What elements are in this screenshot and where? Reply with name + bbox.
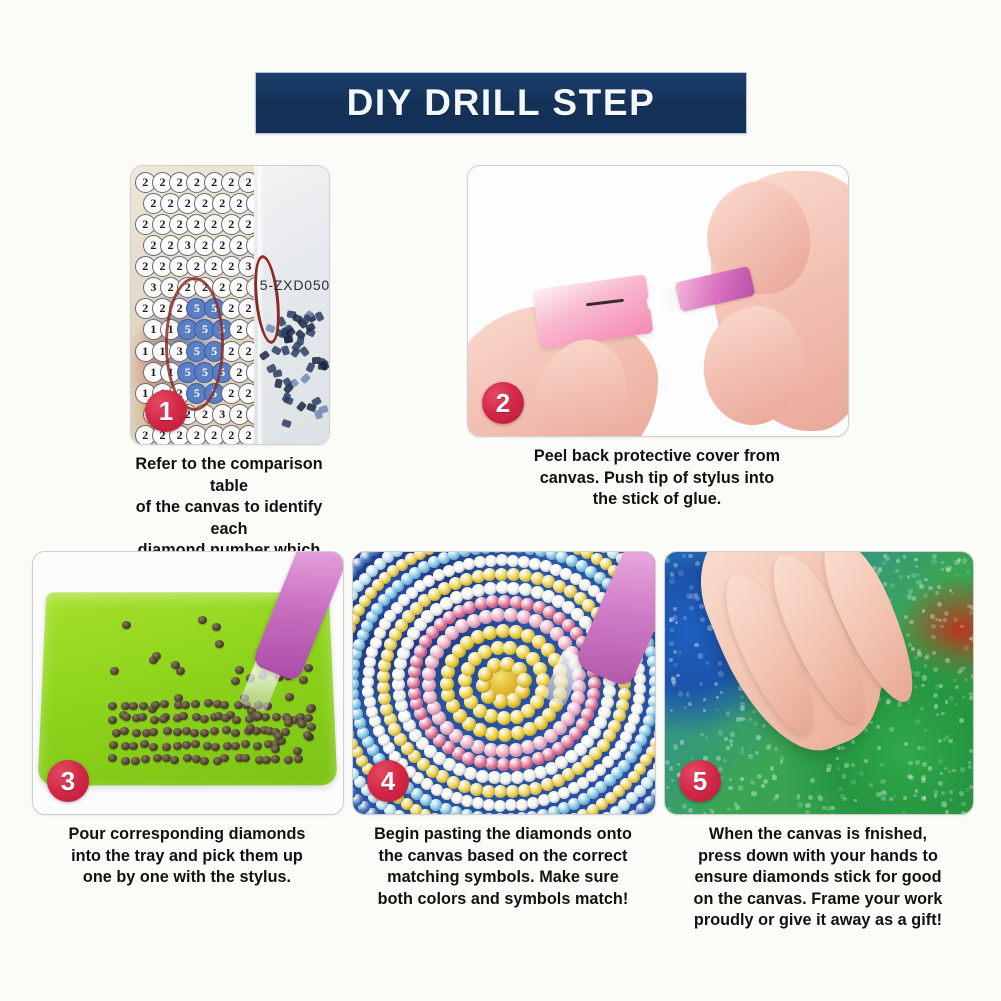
mandala-bead: [530, 695, 544, 709]
canvas-bead-sparkle: [689, 585, 694, 590]
tray-diamond: [200, 757, 209, 765]
mandala-bead: [472, 797, 484, 809]
mandala-bead: [516, 812, 528, 815]
mandala-bead: [532, 752, 545, 765]
canvas-bead-sparkle: [962, 696, 965, 699]
mandala-bead: [484, 582, 497, 595]
tray-diamond: [220, 701, 229, 709]
canvas-bead-sparkle: [678, 651, 682, 655]
canvas-bead-sparkle: [921, 684, 924, 687]
canvas-bead-sparkle: [959, 718, 964, 723]
canvas-bead-sparkle: [753, 721, 758, 726]
canvas-bead-sparkle: [677, 763, 680, 766]
canvas-bead-sparkle: [762, 724, 766, 728]
canvas-bead-sparkle: [971, 674, 974, 678]
mandala-bead: [558, 787, 570, 799]
mandala-bead: [365, 587, 377, 599]
tray-diamond: [129, 702, 138, 710]
canvas-bead-sparkle: [780, 760, 783, 763]
mandala-bead: [353, 639, 365, 651]
mandala-bead: [534, 766, 547, 779]
tray-diamond: [220, 754, 229, 762]
canvas-bead-sparkle: [915, 789, 918, 792]
canvas-bead-sparkle: [966, 570, 970, 574]
page-title: DIY DRILL STEP: [347, 82, 656, 124]
tray-diamond: [181, 701, 190, 709]
canvas-bead-sparkle: [921, 778, 926, 783]
canvas-bead-sparkle: [885, 556, 890, 561]
caption-line: Peel back protective cover from: [467, 446, 847, 468]
canvas-bead-sparkle: [751, 791, 756, 796]
mandala-bead: [459, 551, 471, 557]
canvas-bead-sparkle: [889, 797, 893, 801]
step-2-image: 2: [467, 165, 849, 437]
canvas-bead-sparkle: [678, 570, 684, 576]
canvas-bead-sparkle: [969, 785, 973, 789]
caption-line: press down with your hands to: [664, 846, 972, 868]
mandala-bead: [519, 583, 532, 596]
canvas-bead-sparkle: [913, 794, 916, 797]
mandala-bead: [541, 778, 554, 791]
tray-diamond: [141, 755, 150, 763]
canvas-bead-sparkle: [903, 796, 907, 800]
canvas-bead-sparkle: [907, 575, 911, 579]
canvas-bead-sparkle: [750, 780, 755, 785]
caption-line: canvas. Push tip of stylus into: [467, 468, 847, 490]
tray-diamond: [190, 729, 199, 737]
mandala-bead: [529, 782, 542, 795]
tray-diamond: [108, 754, 117, 762]
tray-diamond: [215, 640, 224, 648]
canvas-bead-sparkle: [770, 766, 774, 770]
mandala-bead: [523, 722, 537, 736]
canvas-bead-sparkle: [911, 647, 915, 651]
tray-diamond: [121, 757, 130, 765]
caption-line: one by one with the stylus.: [32, 867, 342, 889]
canvas-bead-sparkle: [740, 695, 744, 699]
canvas-bead-sparkle: [914, 558, 918, 562]
canvas-bead-sparkle: [680, 740, 685, 745]
tray-diamond: [110, 667, 119, 675]
mandala-bead: [472, 811, 484, 815]
canvas-bead-sparkle: [883, 582, 887, 586]
canvas-bead-sparkle: [924, 578, 928, 582]
tray-diamond: [204, 699, 213, 707]
canvas-bead-sparkle: [883, 791, 888, 796]
canvas-bead-sparkle: [969, 749, 973, 753]
canvas-bead-sparkle: [903, 555, 906, 558]
caption-line: into the tray and pick them up: [32, 846, 342, 868]
canvas-bead-sparkle: [700, 617, 705, 622]
canvas-bead-sparkle: [953, 617, 958, 622]
canvas-bead-sparkle: [775, 794, 779, 798]
tray-diamond: [162, 743, 171, 751]
canvas-bead-sparkle: [937, 585, 941, 589]
canvas-bead-sparkle: [945, 810, 949, 814]
canvas-bead-sparkle: [841, 746, 845, 750]
canvas-bead-sparkle: [949, 696, 954, 701]
canvas-bead-sparkle: [937, 602, 942, 607]
canvas-bead-sparkle: [893, 795, 896, 798]
canvas-bead-sparkle: [928, 586, 932, 590]
canvas-bead-sparkle: [716, 756, 721, 761]
canvas-bead-sparkle: [684, 706, 687, 709]
canvas-bead-sparkle: [934, 794, 938, 798]
canvas-bead-sparkle: [772, 775, 776, 779]
tray-diamond: [163, 727, 172, 735]
canvas-bead-sparkle: [842, 774, 846, 778]
canvas-bead-sparkle: [876, 725, 880, 729]
canvas-bead-sparkle: [740, 706, 745, 711]
canvas-bead-sparkle: [970, 605, 974, 610]
mandala-bead: [505, 799, 517, 811]
canvas-bead-sparkle: [756, 735, 761, 740]
mandala-bead: [483, 799, 495, 811]
canvas-bead-sparkle: [669, 766, 673, 770]
canvas-bead-sparkle: [729, 778, 733, 782]
canvas-bead-sparkle: [669, 812, 674, 816]
canvas-bead-sparkle: [726, 746, 730, 750]
canvas-bead-sparkle: [886, 699, 891, 704]
tray-diamond: [139, 702, 148, 710]
mandala-bead: [494, 813, 506, 815]
tray-diamond: [122, 713, 131, 721]
mandala-bead: [491, 551, 503, 553]
canvas-bead-sparkle: [934, 704, 939, 709]
caption-line: matching symbols. Make sure: [352, 867, 654, 889]
tray-diamond: [160, 700, 169, 708]
canvas-bead-sparkle: [703, 812, 707, 815]
page-title-banner: DIY DRILL STEP: [255, 72, 747, 134]
canvas-bead-sparkle: [682, 804, 687, 809]
canvas-bead-sparkle: [962, 558, 967, 563]
tray-diamond: [191, 700, 200, 708]
canvas-bead-sparkle: [699, 682, 703, 686]
canvas-bead-sparkle: [912, 596, 917, 601]
drill-bead: [259, 350, 270, 361]
canvas-bead-sparkle: [730, 814, 733, 815]
step-badge-2: 2: [482, 382, 524, 424]
mandala-bead: [352, 551, 353, 558]
tray-diamond: [241, 740, 250, 748]
canvas-bead-sparkle: [880, 763, 884, 767]
mandala-bead: [518, 784, 531, 797]
canvas-bead-sparkle: [933, 667, 938, 672]
canvas-bead-sparkle: [673, 650, 677, 654]
canvas-bead-sparkle: [922, 609, 926, 613]
canvas-bead-sparkle: [665, 558, 670, 563]
canvas-bead-sparkle: [670, 572, 675, 577]
canvas-bead-sparkle: [757, 774, 762, 779]
canvas-bead-sparkle: [669, 658, 673, 662]
canvas-bead-sparkle: [959, 667, 964, 672]
mandala-bead: [472, 584, 485, 597]
mandala-bead: [523, 769, 536, 782]
canvas-bead-sparkle: [666, 786, 669, 789]
canvas-bead-sparkle: [932, 651, 936, 655]
canvas-bead-sparkle: [952, 769, 955, 772]
canvas-bead-sparkle: [830, 806, 834, 810]
mandala-bead: [498, 728, 512, 742]
canvas-bead-sparkle: [931, 624, 936, 629]
canvas-bead-sparkle: [854, 799, 857, 802]
step-badge-1: 1: [145, 390, 187, 432]
canvas-bead-sparkle: [914, 686, 918, 690]
canvas-bead-sparkle: [808, 795, 813, 800]
tray-diamond: [151, 701, 160, 709]
mandala-bead: [509, 758, 522, 771]
canvas-bead-sparkle: [928, 766, 933, 771]
canvas-bead-sparkle: [844, 763, 849, 768]
tray-diamond: [108, 716, 117, 724]
canvas-bead-sparkle: [676, 674, 679, 677]
mandala-bead: [460, 573, 473, 586]
step-4-image: 4: [352, 551, 656, 815]
canvas-bead-sparkle: [917, 649, 921, 653]
canvas-bead-sparkle: [669, 578, 674, 583]
tray-diamond: [183, 754, 192, 762]
canvas-bead-sparkle: [931, 559, 936, 564]
tray-diamond: [153, 754, 162, 762]
mandala-bead: [491, 641, 505, 655]
caption-line: the canvas based on the correct: [352, 846, 654, 868]
canvas-bead-sparkle: [911, 573, 916, 578]
canvas-bead-sparkle: [896, 559, 900, 563]
canvas-bead-sparkle: [960, 767, 965, 772]
mandala-bead: [506, 693, 521, 708]
mandala-bead: [461, 809, 473, 815]
tray-diamond: [191, 740, 200, 748]
canvas-bead-sparkle: [673, 744, 678, 749]
canvas-bead-sparkle: [960, 625, 964, 629]
tray-diamond: [120, 727, 129, 735]
tray-diamond: [138, 713, 147, 721]
mandala-bead: [480, 551, 492, 554]
canvas-bead-sparkle: [688, 808, 693, 813]
canvas-bead-sparkle: [749, 718, 752, 721]
canvas-bead-sparkle: [944, 767, 947, 770]
canvas-bead-sparkle: [851, 763, 854, 766]
mandala-bead: [497, 711, 511, 725]
mandala-bead: [516, 799, 528, 811]
mandala-bead: [485, 757, 498, 770]
canvas-bead-sparkle: [899, 575, 903, 579]
canvas-bead-sparkle: [921, 796, 926, 801]
canvas-bead-sparkle: [915, 565, 918, 568]
canvas-bead-sparkle: [716, 696, 720, 700]
canvas-bead-sparkle: [718, 671, 724, 677]
drill-bead: [311, 396, 322, 407]
canvas-bead-sparkle: [763, 779, 768, 784]
canvas-bead-sparkle: [682, 554, 686, 558]
tray-diamond: [306, 705, 315, 713]
tray-diamond: [304, 664, 313, 672]
canvas-bead-sparkle: [686, 593, 691, 598]
canvas-bead-sparkle: [906, 633, 910, 637]
drill-bead: [299, 346, 310, 357]
canvas-bead-sparkle: [945, 658, 950, 663]
canvas-bead-sparkle: [736, 717, 741, 722]
canvas-bead-sparkle: [904, 742, 909, 747]
tray-diamond: [285, 693, 294, 701]
mandala-bead: [450, 806, 462, 815]
canvas-bead-sparkle: [931, 635, 936, 640]
canvas-bead-sparkle: [941, 712, 945, 716]
canvas-bead-sparkle: [730, 732, 735, 737]
tray-diamond: [182, 741, 191, 749]
canvas-bead-sparkle: [827, 764, 831, 768]
mandala-bead: [506, 785, 519, 798]
caption-line: both colors and symbols match!: [352, 889, 654, 911]
canvas-bead-sparkle: [965, 788, 969, 792]
mandala-bead: [422, 667, 436, 681]
canvas-bead-sparkle: [945, 700, 949, 704]
drill-bead: [317, 362, 327, 370]
mandala-bead: [548, 806, 560, 815]
canvas-bead-sparkle: [914, 671, 919, 676]
canvas-bead-sparkle: [869, 783, 872, 786]
canvas-bead-sparkle: [914, 656, 918, 660]
drill-bead: [281, 418, 292, 427]
canvas-bead-sparkle: [941, 568, 944, 571]
canvas-bead-sparkle: [774, 747, 778, 751]
tray-diamond: [152, 652, 161, 660]
canvas-bead-sparkle: [720, 691, 723, 694]
mandala-bead: [504, 608, 518, 622]
canvas-bead-sparkle: [889, 727, 893, 731]
canvas-bead-sparkle: [922, 675, 927, 680]
tray-diamond: [231, 729, 240, 737]
tray-diamond: [235, 666, 244, 674]
canvas-bead-sparkle: [971, 635, 974, 639]
caption-line: When the canvas is fnished,: [664, 824, 972, 846]
tray-diamond: [222, 726, 231, 734]
canvas-bead-sparkle: [683, 616, 687, 620]
canvas-bead-sparkle: [694, 643, 699, 648]
canvas-bead-sparkle: [920, 707, 924, 711]
canvas-bead-sparkle: [878, 567, 882, 571]
mandala-bead: [505, 813, 517, 815]
canvas-bead-sparkle: [703, 709, 707, 713]
tray-diamond: [284, 756, 293, 764]
mandala-bead: [511, 771, 524, 784]
mandala-bead: [538, 794, 550, 806]
canvas-bead-sparkle: [667, 807, 671, 811]
canvas-bead-sparkle: [943, 804, 947, 808]
canvas-bead-sparkle: [939, 684, 943, 688]
canvas-bead-sparkle: [740, 777, 745, 782]
canvas-bead-sparkle: [954, 703, 957, 706]
canvas-bead-sparkle: [694, 593, 698, 597]
tray-diamond: [149, 728, 158, 736]
mandala-bead: [655, 551, 656, 558]
canvas-bead-sparkle: [830, 813, 835, 815]
canvas-bead-sparkle: [933, 693, 938, 698]
tray-diamond: [200, 715, 209, 723]
canvas-bead-sparkle: [895, 569, 899, 573]
canvas-bead-sparkle: [726, 711, 731, 716]
canvas-bead-sparkle: [748, 754, 753, 759]
canvas-bead-sparkle: [951, 592, 954, 595]
canvas-bead-sparkle: [948, 770, 951, 773]
canvas-bead-sparkle: [935, 591, 939, 595]
tray-diamond: [149, 743, 158, 751]
mandala-bead: [521, 740, 535, 754]
step-5-caption: When the canvas is fnished, press down w…: [664, 824, 972, 932]
tray-diamond: [231, 742, 240, 750]
canvas-bead-sparkle: [837, 767, 840, 770]
drill-bead: [283, 396, 294, 406]
mandala-bead: [510, 710, 524, 724]
canvas-bead-sparkle: [909, 620, 914, 625]
canvas-bead-sparkle: [955, 685, 959, 689]
step-3-caption: Pour corresponding diamonds into the tra…: [32, 824, 342, 889]
canvas-bead-sparkle: [673, 663, 677, 667]
step-1-image: 2222222222222222222222232222222222332222…: [130, 165, 330, 445]
tray-diamond: [294, 755, 303, 763]
diamond-bag: 5-ZXD050: [254, 166, 329, 444]
mandala-bead: [497, 758, 510, 771]
canvas-bead-sparkle: [716, 708, 719, 711]
tray-diamond: [132, 729, 141, 737]
canvas-bead-sparkle: [755, 751, 759, 755]
canvas-bead-sparkle: [890, 583, 895, 588]
canvas-bead-sparkle: [955, 574, 958, 577]
tray-diamond: [298, 720, 307, 728]
tray-diamond: [140, 740, 149, 748]
canvas-bead-sparkle: [695, 561, 700, 566]
canvas-bead-sparkle: [714, 682, 718, 686]
canvas-bead-sparkle: [796, 796, 799, 799]
tray-diamond: [293, 747, 302, 755]
mandala-bead: [509, 743, 523, 757]
step-card-4: 4 Begin pasting the diamonds onto the ca…: [352, 551, 654, 910]
drill-bead: [271, 345, 282, 355]
tray-diamond: [198, 616, 207, 624]
canvas-bead-sparkle: [678, 691, 684, 697]
tray-diamond: [221, 714, 230, 722]
canvas-bead-sparkle: [953, 679, 956, 682]
canvas-bead-sparkle: [908, 589, 913, 594]
mandala-bead: [485, 727, 499, 741]
canvas-bead-sparkle: [922, 762, 927, 767]
tray-diamond: [299, 676, 308, 684]
canvas-bead-sparkle: [689, 606, 694, 611]
canvas-bead-sparkle: [881, 796, 886, 801]
mandala-bead: [545, 762, 558, 775]
caption-line: Pour corresponding diamonds: [32, 824, 342, 846]
canvas-bead-sparkle: [673, 607, 677, 611]
mandala-bead: [458, 780, 471, 793]
tray-diamond: [108, 702, 117, 710]
canvas-bead-sparkle: [859, 771, 864, 776]
drill-bead: [273, 370, 283, 379]
mandala-bead: [496, 624, 510, 638]
canvas-bead-sparkle: [908, 643, 911, 646]
mandala-bead: [517, 673, 532, 688]
canvas-bead-sparkle: [675, 621, 678, 624]
canvas-bead-sparkle: [797, 802, 802, 807]
mandala-bead: [451, 792, 463, 804]
tray-diamond: [200, 729, 209, 737]
canvas-bead-sparkle: [964, 645, 969, 650]
tray-diamond: [212, 623, 221, 631]
canvas-bead-sparkle: [904, 615, 908, 619]
canvas-bead-sparkle: [948, 739, 953, 744]
canvas-bead-sparkle: [740, 751, 744, 755]
canvas-bead-sparkle: [840, 794, 845, 799]
canvas-bead-sparkle: [969, 696, 974, 701]
